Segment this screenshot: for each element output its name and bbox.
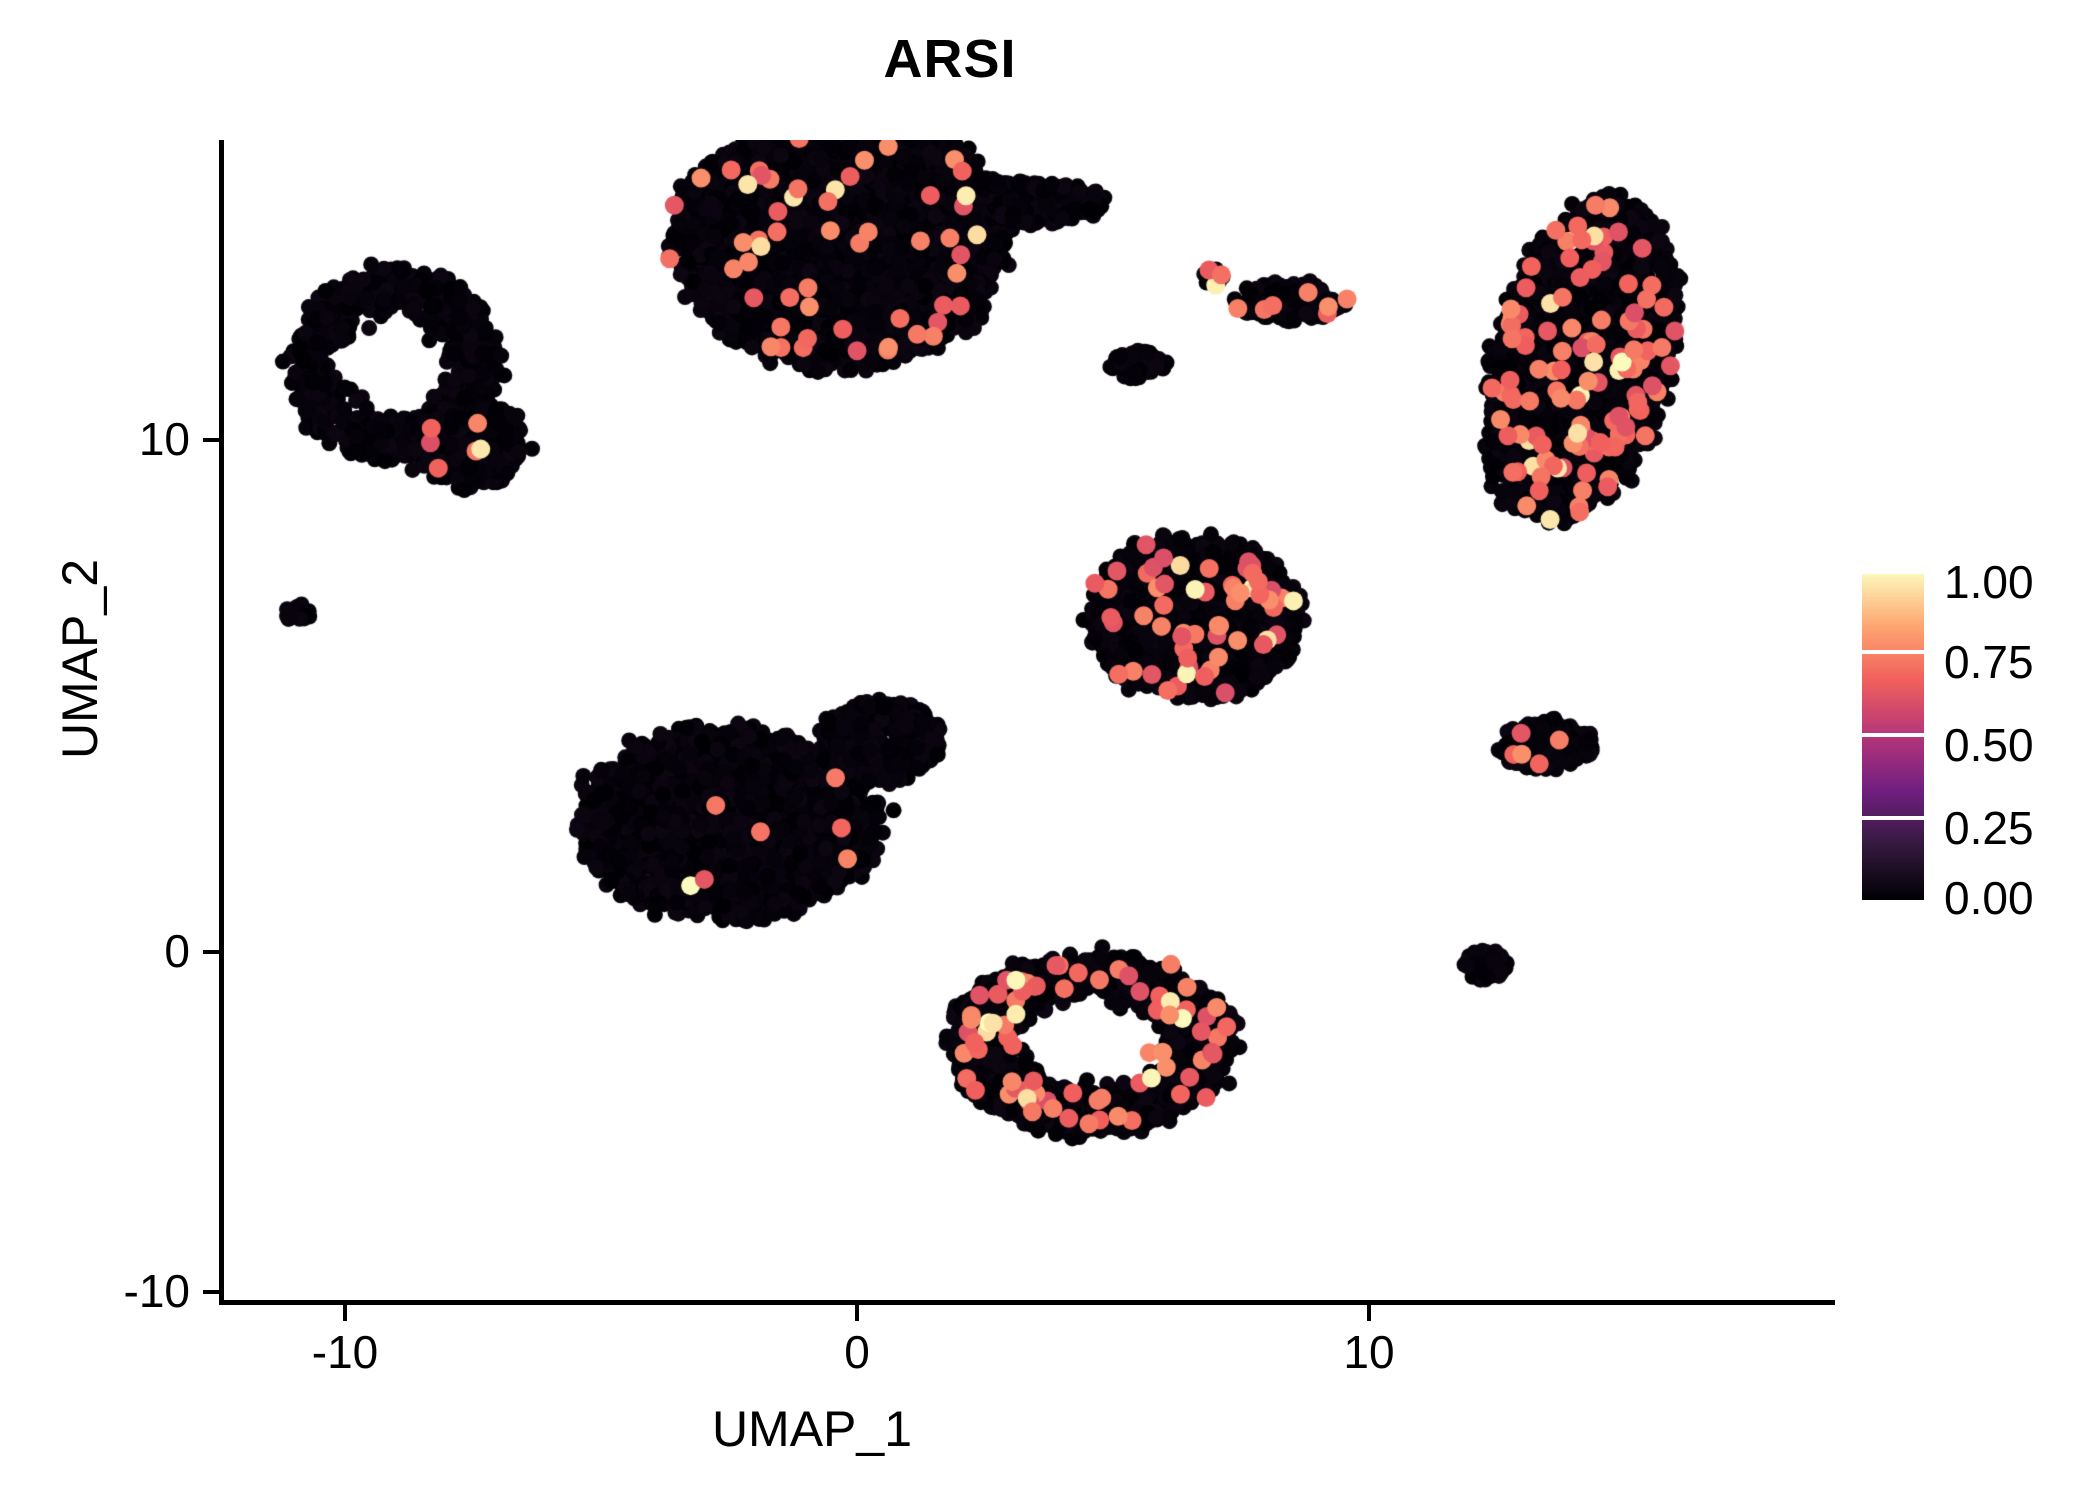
x-tick-mark-0	[855, 1305, 859, 1321]
umap-figure: ARSI 10 0 -10 -10 0 10 UMAP_1 UMAP_2 1.0…	[0, 0, 2100, 1500]
x-tick-mark-10	[1367, 1305, 1371, 1321]
page-title: ARSI	[0, 28, 1900, 90]
scatter-canvas	[222, 140, 1832, 1302]
x-tick-label-0: 0	[757, 1325, 957, 1379]
x-tick-label-10: 10	[1269, 1325, 1469, 1379]
x-axis-title: UMAP_1	[222, 1400, 1402, 1458]
y-axis-line	[219, 140, 224, 1305]
colorbar-label-075: 0.75	[1944, 635, 2034, 689]
plot-panel	[222, 140, 1832, 1302]
y-tick-mark-0	[203, 950, 219, 954]
y-tick-label-neg10: -10	[38, 1264, 190, 1318]
y-tick-mark-neg10	[203, 1290, 219, 1294]
x-tick-mark-neg10	[343, 1305, 347, 1321]
colorbar-gradient	[1862, 570, 1924, 900]
y-axis-title: UMAP_2	[51, 309, 109, 1009]
colorbar-legend: 1.00 0.75 0.50 0.25 0.00	[1862, 570, 2072, 905]
colorbar-label-000: 0.00	[1944, 871, 2034, 925]
colorbar-label-100: 1.00	[1944, 555, 2034, 609]
colorbar-label-050: 0.50	[1944, 718, 2034, 772]
colorbar-label-025: 0.25	[1944, 801, 2034, 855]
x-tick-label-neg10: -10	[245, 1325, 445, 1379]
y-tick-mark-10	[203, 438, 219, 442]
x-axis-line	[219, 1300, 1835, 1305]
